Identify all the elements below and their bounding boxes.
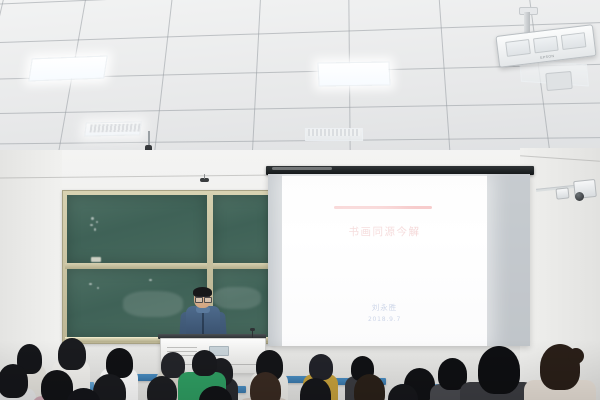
ceiling-access-panel bbox=[545, 71, 572, 91]
projector-vent bbox=[505, 39, 531, 57]
blackboard-mic-rod bbox=[204, 174, 205, 179]
glasses-lens-right bbox=[204, 297, 212, 303]
person-hair bbox=[0, 364, 28, 398]
glasses-lens-left bbox=[195, 297, 203, 303]
chalk-mark bbox=[96, 221, 98, 223]
projection-screen: 书画同源今解 刘永胜 2018.9.7 bbox=[268, 174, 530, 346]
person-hair-bun bbox=[568, 348, 584, 364]
recessed-light-3 bbox=[317, 62, 390, 87]
slide-author: 刘永胜 bbox=[282, 302, 487, 313]
chalk-mark bbox=[91, 217, 94, 220]
slide-title: 书画同源今解 bbox=[282, 224, 487, 239]
person-hair bbox=[147, 376, 177, 400]
chalk-smudge bbox=[123, 291, 183, 317]
blackboard-panel-top-right bbox=[213, 195, 271, 263]
blackboard-divider-horizontal bbox=[65, 263, 273, 269]
person-hair bbox=[478, 346, 520, 394]
person-hair bbox=[192, 350, 217, 376]
person-hair bbox=[309, 354, 333, 380]
screen-unused-band-right bbox=[487, 174, 530, 346]
chalk-mark bbox=[97, 287, 99, 289]
projector-vent bbox=[533, 36, 559, 54]
ceiling-tile-joint bbox=[0, 101, 600, 115]
wall-mount-bracket bbox=[555, 187, 569, 199]
podium-microphone-head bbox=[250, 328, 255, 331]
chalk-mark bbox=[94, 228, 96, 231]
projector-mount-arm bbox=[524, 12, 530, 34]
projected-slide: 书画同源今解 刘永胜 2018.9.7 bbox=[282, 176, 487, 346]
projector: EPSON bbox=[495, 24, 596, 68]
podium-microphone-icon bbox=[252, 330, 253, 338]
chalk-mark bbox=[90, 224, 93, 226]
screen-housing-highlight bbox=[272, 167, 332, 170]
glasses-icon bbox=[195, 296, 210, 301]
blackboard bbox=[62, 190, 276, 344]
screen-unused-band-left bbox=[268, 174, 282, 346]
person-hair bbox=[250, 372, 281, 400]
person-hair bbox=[58, 338, 86, 370]
projector-vent bbox=[561, 32, 587, 50]
chalk-mark bbox=[89, 283, 92, 285]
podium-seam bbox=[167, 347, 197, 348]
ceiling-light-grille bbox=[90, 123, 141, 132]
chalk-eraser bbox=[91, 257, 101, 262]
projector-brand-label: EPSON bbox=[540, 54, 555, 60]
security-camera-icon bbox=[575, 192, 584, 201]
chalk-mark bbox=[149, 279, 152, 281]
slide-date: 2018.9.7 bbox=[282, 316, 487, 323]
blackboard-panel-top-left bbox=[67, 195, 207, 263]
ceiling-light-grille bbox=[308, 129, 360, 136]
ceiling-tile-joint bbox=[0, 136, 600, 145]
recessed-light-1 bbox=[28, 55, 108, 81]
slide-accent-rule bbox=[334, 206, 432, 209]
chalk-smudge bbox=[213, 287, 261, 309]
ceiling-tile-joint bbox=[0, 0, 600, 7]
lecture-hall-photo: EPSON bbox=[0, 0, 600, 400]
